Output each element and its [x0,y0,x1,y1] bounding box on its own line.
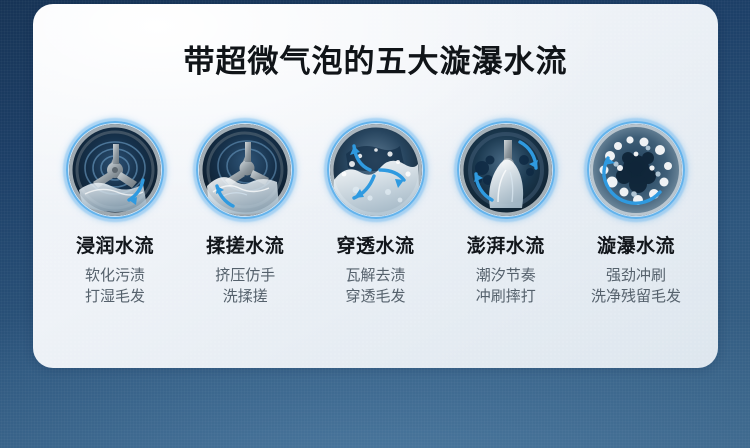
washer-drum-soak-icon [63,118,167,222]
washer-drum-surge-icon [454,118,558,222]
flow-item[interactable]: 浸润水流 软化污渍 打湿毛发 [51,118,179,307]
flow-item[interactable]: 漩瀑水流 强劲冲刷 洗净残留毛发 [572,118,700,307]
flow-desc-line: 冲刷摔打 [476,286,536,307]
flow-title: 揉搓水流 [206,231,284,258]
flow-desc-line: 穿透毛发 [345,286,405,307]
washer-drum-rub-icon [193,118,297,222]
flow-desc-line: 潮汐节奏 [476,265,536,286]
flow-item[interactable]: 澎湃水流 潮汐节奏 冲刷摔打 [442,118,570,307]
flow-item[interactable]: 揉搓水流 挤压仿手 洗揉搓 [181,118,309,307]
flow-desc-line: 瓦解去渍 [345,265,405,286]
flow-desc-line: 软化污渍 [85,265,145,286]
washer-drum-penetrate-icon [324,118,428,222]
drum-image [69,124,161,216]
flow-desc-line: 打湿毛发 [85,286,145,307]
drum-image [330,124,422,216]
page-title: 带超微气泡的五大漩瀑水流 [33,42,718,82]
flow-desc-line: 强劲冲刷 [591,265,681,286]
flow-item[interactable]: 穿透水流 瓦解去渍 穿透毛发 [312,118,440,307]
drum-image [460,124,552,216]
flow-description: 潮汐节奏 冲刷摔打 [476,265,536,307]
flow-desc-line: 挤压仿手 [215,265,275,286]
flow-description: 瓦解去渍 穿透毛发 [345,265,405,307]
drum-image [199,124,291,216]
drum-image [590,124,682,216]
flow-desc-line: 洗净残留毛发 [591,286,681,307]
washer-drum-vortex-icon [584,118,688,222]
flow-description: 强劲冲刷 洗净残留毛发 [591,265,681,307]
flow-description: 软化污渍 打湿毛发 [85,265,145,307]
flow-title: 澎湃水流 [467,231,545,258]
feature-card: 带超微气泡的五大漩瀑水流 [33,4,718,368]
flow-title: 漩瀑水流 [597,231,675,258]
flow-desc-line: 洗揉搓 [215,286,275,307]
flow-description: 挤压仿手 洗揉搓 [215,265,275,307]
flow-list: 浸润水流 软化污渍 打湿毛发 [51,118,700,307]
flow-title: 穿透水流 [336,231,414,258]
flow-title: 浸润水流 [76,231,154,258]
